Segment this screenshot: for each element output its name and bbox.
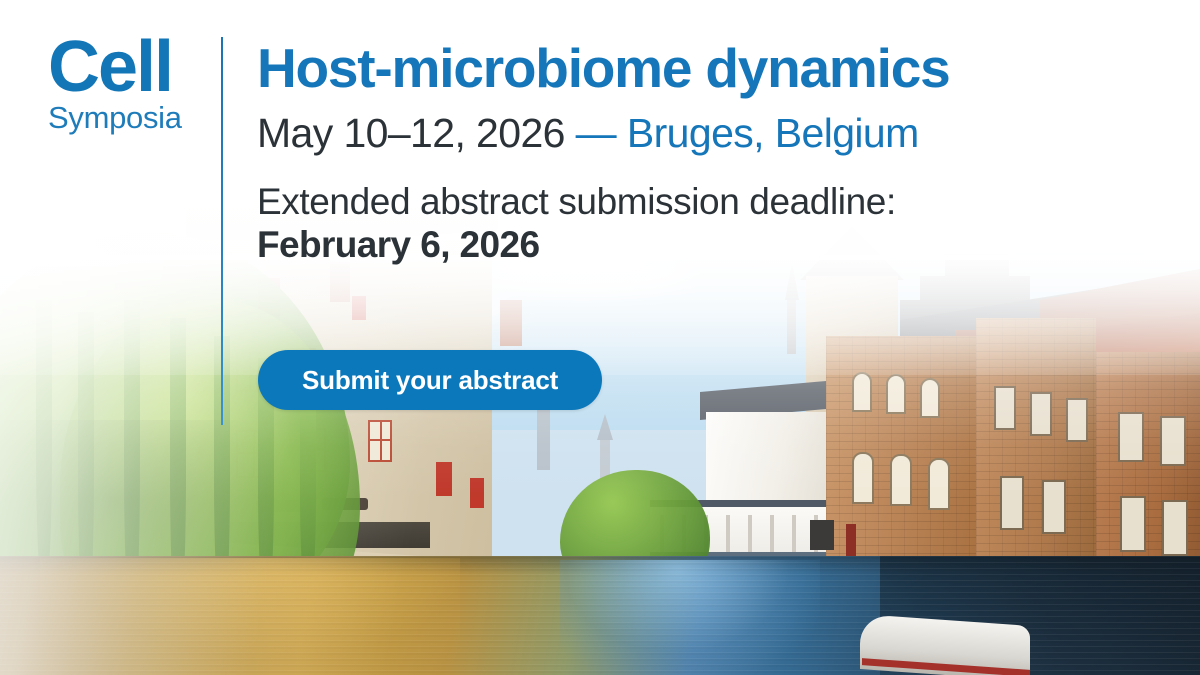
- deadline-block: Extended abstract submission deadline: F…: [257, 181, 1157, 267]
- deadline-date: February 6, 2026: [257, 224, 1157, 267]
- deadline-label: Extended abstract submission deadline:: [257, 181, 896, 222]
- logo-cell-wordmark: Cell: [48, 34, 200, 100]
- event-dates: May 10–12, 2026: [257, 110, 565, 156]
- logo-symposia-wordmark: Symposia: [48, 102, 200, 133]
- vertical-divider: [221, 37, 223, 425]
- event-separator: —: [576, 110, 616, 156]
- cell-symposia-logo: Cell Symposia: [48, 34, 200, 133]
- banner-content: Cell Symposia Host-microbiome dynamics M…: [0, 0, 1200, 675]
- event-text-block: Host-microbiome dynamics May 10–12, 2026…: [257, 40, 1157, 267]
- event-title: Host-microbiome dynamics: [257, 40, 1157, 96]
- cell-symposia-promo-banner: Cell Symposia Host-microbiome dynamics M…: [0, 0, 1200, 675]
- event-dateline: May 10–12, 2026 — Bruges, Belgium: [257, 112, 1157, 155]
- submit-abstract-button[interactable]: Submit your abstract: [258, 350, 602, 410]
- event-location: Bruges, Belgium: [627, 110, 919, 156]
